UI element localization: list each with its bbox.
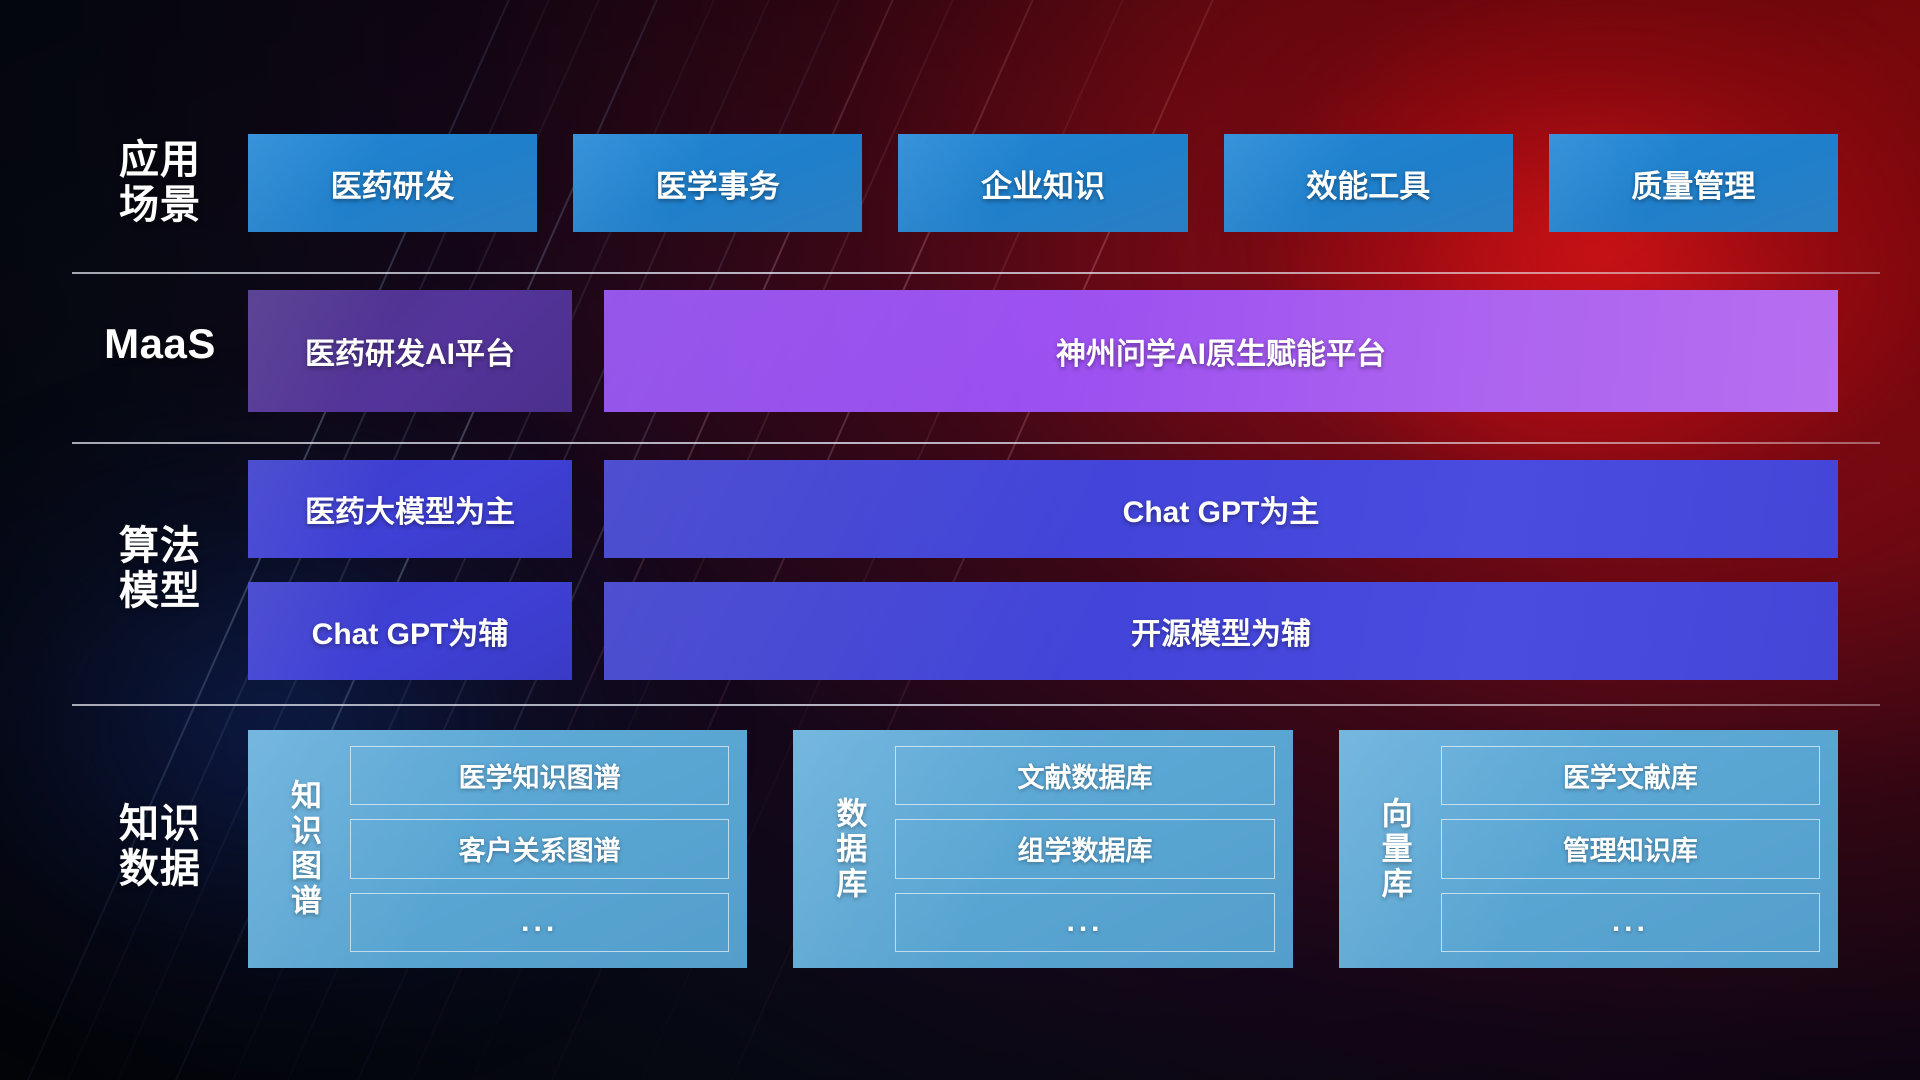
- app-card-quality-management[interactable]: 质量管理: [1549, 134, 1838, 232]
- maas-cards: 医药研发AI平台 神州问学AI原生赋能平台: [248, 290, 1838, 412]
- algo-card-chatgpt-secondary[interactable]: Chat GPT为辅: [248, 582, 572, 680]
- maas-card-drug-rd-ai-platform[interactable]: 医药研发AI平台: [248, 290, 572, 412]
- app-card-enterprise-knowledge[interactable]: 企业知识: [898, 134, 1187, 232]
- knowledge-item-management-knowledge-store[interactable]: 管理知识库: [1441, 819, 1820, 878]
- row-label-line-1: 应用: [72, 138, 248, 183]
- algorithm-model-cards: 医药大模型为主 Chat GPT为主 Chat GPT为辅 开源模型为辅: [248, 460, 1838, 680]
- divider-maas-algo: [72, 442, 1880, 444]
- knowledge-group-title: 数据库: [809, 746, 887, 952]
- algo-card-medical-llm-primary[interactable]: 医药大模型为主: [248, 460, 572, 558]
- row-label-line-2: 模型: [72, 569, 248, 614]
- knowledge-group-database: 数据库 文献数据库 组学数据库 ...: [793, 730, 1292, 968]
- row-maas: MaaS 医药研发AI平台 神州问学AI原生赋能平台: [0, 290, 1920, 412]
- algo-card-chatgpt-primary[interactable]: Chat GPT为主: [604, 460, 1838, 558]
- row-label-line-2: 数据: [72, 847, 248, 892]
- row-label-application-scenarios: 应用 场景: [72, 138, 248, 228]
- row-algorithm-models: 算法 模型 医药大模型为主 Chat GPT为主 Chat GPT为辅 开源模型…: [0, 460, 1920, 680]
- architecture-diagram: 应用 场景 医药研发 医学事务 企业知识 效能工具 质量管理 MaaS 医药研发…: [0, 0, 1920, 1080]
- knowledge-item-more[interactable]: ...: [895, 893, 1274, 952]
- app-card-efficiency-tools[interactable]: 效能工具: [1224, 134, 1513, 232]
- knowledge-item-more[interactable]: ...: [350, 893, 729, 952]
- knowledge-group-knowledge-graph: 知识图谱 医学知识图谱 客户关系图谱 ...: [248, 730, 747, 968]
- knowledge-item-more[interactable]: ...: [1441, 893, 1820, 952]
- algorithm-model-row-primary: 医药大模型为主 Chat GPT为主: [248, 460, 1838, 558]
- row-label-algorithm-models: 算法 模型: [72, 524, 248, 614]
- knowledge-item-omics-database[interactable]: 组学数据库: [895, 819, 1274, 878]
- knowledge-group-items: 医学文献库 管理知识库 ...: [1433, 746, 1820, 952]
- knowledge-group-items: 文献数据库 组学数据库 ...: [887, 746, 1274, 952]
- app-card-drug-rd[interactable]: 医药研发: [248, 134, 537, 232]
- row-label-maas: MaaS: [72, 320, 248, 367]
- algo-card-opensource-secondary[interactable]: 开源模型为辅: [604, 582, 1838, 680]
- row-label-line-1: 算法: [72, 524, 248, 569]
- row-label-line-1: 知识: [72, 802, 248, 847]
- knowledge-data-groups: 知识图谱 医学知识图谱 客户关系图谱 ... 数据库 文献数据库 组学数据库 .…: [248, 730, 1838, 968]
- knowledge-group-items: 医学知识图谱 客户关系图谱 ...: [342, 746, 729, 952]
- knowledge-item-medical-knowledge-graph[interactable]: 医学知识图谱: [350, 746, 729, 805]
- knowledge-group-vector-store: 向量库 医学文献库 管理知识库 ...: [1339, 730, 1838, 968]
- application-scenario-cards: 医药研发 医学事务 企业知识 效能工具 质量管理: [248, 134, 1838, 232]
- knowledge-item-literature-database[interactable]: 文献数据库: [895, 746, 1274, 805]
- divider-algo-knowledge: [72, 704, 1880, 706]
- knowledge-item-medical-literature-store[interactable]: 医学文献库: [1441, 746, 1820, 805]
- knowledge-group-title: 知识图谱: [264, 746, 342, 952]
- app-card-medical-affairs[interactable]: 医学事务: [573, 134, 862, 232]
- knowledge-item-customer-relation-graph[interactable]: 客户关系图谱: [350, 819, 729, 878]
- row-application-scenarios: 应用 场景 医药研发 医学事务 企业知识 效能工具 质量管理: [0, 134, 1920, 232]
- algorithm-model-row-secondary: Chat GPT为辅 开源模型为辅: [248, 582, 1838, 680]
- row-label-knowledge-data: 知识 数据: [72, 802, 248, 892]
- maas-card-shenzhou-wenxue-platform[interactable]: 神州问学AI原生赋能平台: [604, 290, 1838, 412]
- knowledge-group-title: 向量库: [1355, 746, 1433, 952]
- divider-apps-maas: [72, 272, 1880, 274]
- row-knowledge-data: 知识 数据 知识图谱 医学知识图谱 客户关系图谱 ... 数据库 文献数据库 组…: [0, 730, 1920, 968]
- row-label-line-2: 场景: [72, 183, 248, 228]
